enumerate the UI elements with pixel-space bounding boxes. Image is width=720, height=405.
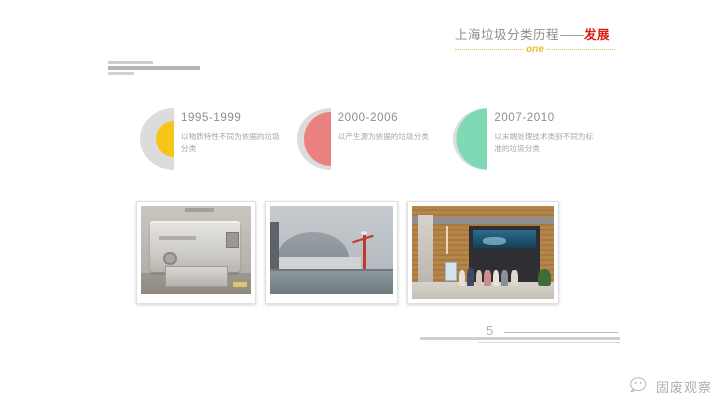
slide-footer: 5 xyxy=(420,322,620,342)
header-subtitle: one xyxy=(523,45,547,55)
photo-frame-3 xyxy=(407,201,559,304)
footer-rule-mid xyxy=(420,337,620,340)
header-title-row: 上海垃圾分类历程 —— 发展 xyxy=(455,24,615,43)
footer-rule-top xyxy=(504,332,618,333)
timeline-text-3: 2007-2010 以末端处理技术类别不同为标准的垃圾分类 xyxy=(494,108,594,155)
photo-landfill-dome xyxy=(270,206,393,294)
header-accent-word: 发展 xyxy=(584,24,610,43)
timeline-years: 2007-2010 xyxy=(494,112,594,124)
timeline-list: 1995-1999 以物质特性不同为依据的垃圾分类 2000-2006 以产生源… xyxy=(140,108,610,170)
photo-exhibition-entrance xyxy=(412,206,554,299)
slide-canvas: 上海垃圾分类历程 —— 发展 one 1995-1999 以物质特性不同为 xyxy=(0,0,720,405)
header-rule-left xyxy=(455,49,523,50)
decorative-bars xyxy=(108,61,203,77)
timeline-text-2: 2000-2006 以产生源为依据的垃圾分类 xyxy=(338,108,438,143)
photo-waste-treatment-equipment xyxy=(141,206,251,294)
photo-gallery xyxy=(136,201,559,304)
photo-frame-2 xyxy=(265,201,398,304)
pie-wedge-shape xyxy=(297,108,331,170)
timeline-years: 2000-2006 xyxy=(338,112,438,124)
decorative-bar-1 xyxy=(108,61,153,64)
header-rule-right xyxy=(547,49,615,50)
slide-header: 上海垃圾分类历程 —— 发展 one xyxy=(455,24,615,55)
page-number: 5 xyxy=(486,323,493,338)
photo-frame-1 xyxy=(136,201,256,304)
timeline-text-1: 1995-1999 以物质特性不同为依据的垃圾分类 xyxy=(181,108,281,155)
decorative-bar-3 xyxy=(108,72,134,75)
page-title: 上海垃圾分类历程 xyxy=(455,24,559,43)
pie-wedge-icon xyxy=(140,108,174,170)
footer-rule-low xyxy=(478,342,620,343)
brand-mark: 固废观察 xyxy=(629,375,712,397)
brand-name: 固废观察 xyxy=(656,377,712,396)
pie-wedge-shape xyxy=(453,108,487,170)
timeline-item-2: 2000-2006 以产生源为依据的垃圾分类 xyxy=(297,108,454,170)
pie-wedge-shape xyxy=(140,108,174,170)
header-subtitle-row: one xyxy=(455,44,615,55)
decorative-bar-2 xyxy=(108,66,200,70)
timeline-description: 以物质特性不同为依据的垃圾分类 xyxy=(181,131,281,155)
pie-wedge-icon xyxy=(453,108,487,170)
timeline-years: 1995-1999 xyxy=(181,112,281,124)
header-dash: —— xyxy=(560,28,583,42)
timeline-description: 以末端处理技术类别不同为标准的垃圾分类 xyxy=(494,131,594,155)
pie-wedge-icon xyxy=(297,108,331,170)
timeline-item-3: 2007-2010 以末端处理技术类别不同为标准的垃圾分类 xyxy=(453,108,610,170)
wechat-logo-icon xyxy=(629,375,651,397)
timeline-item-1: 1995-1999 以物质特性不同为依据的垃圾分类 xyxy=(140,108,297,170)
timeline-description: 以产生源为依据的垃圾分类 xyxy=(338,131,438,143)
